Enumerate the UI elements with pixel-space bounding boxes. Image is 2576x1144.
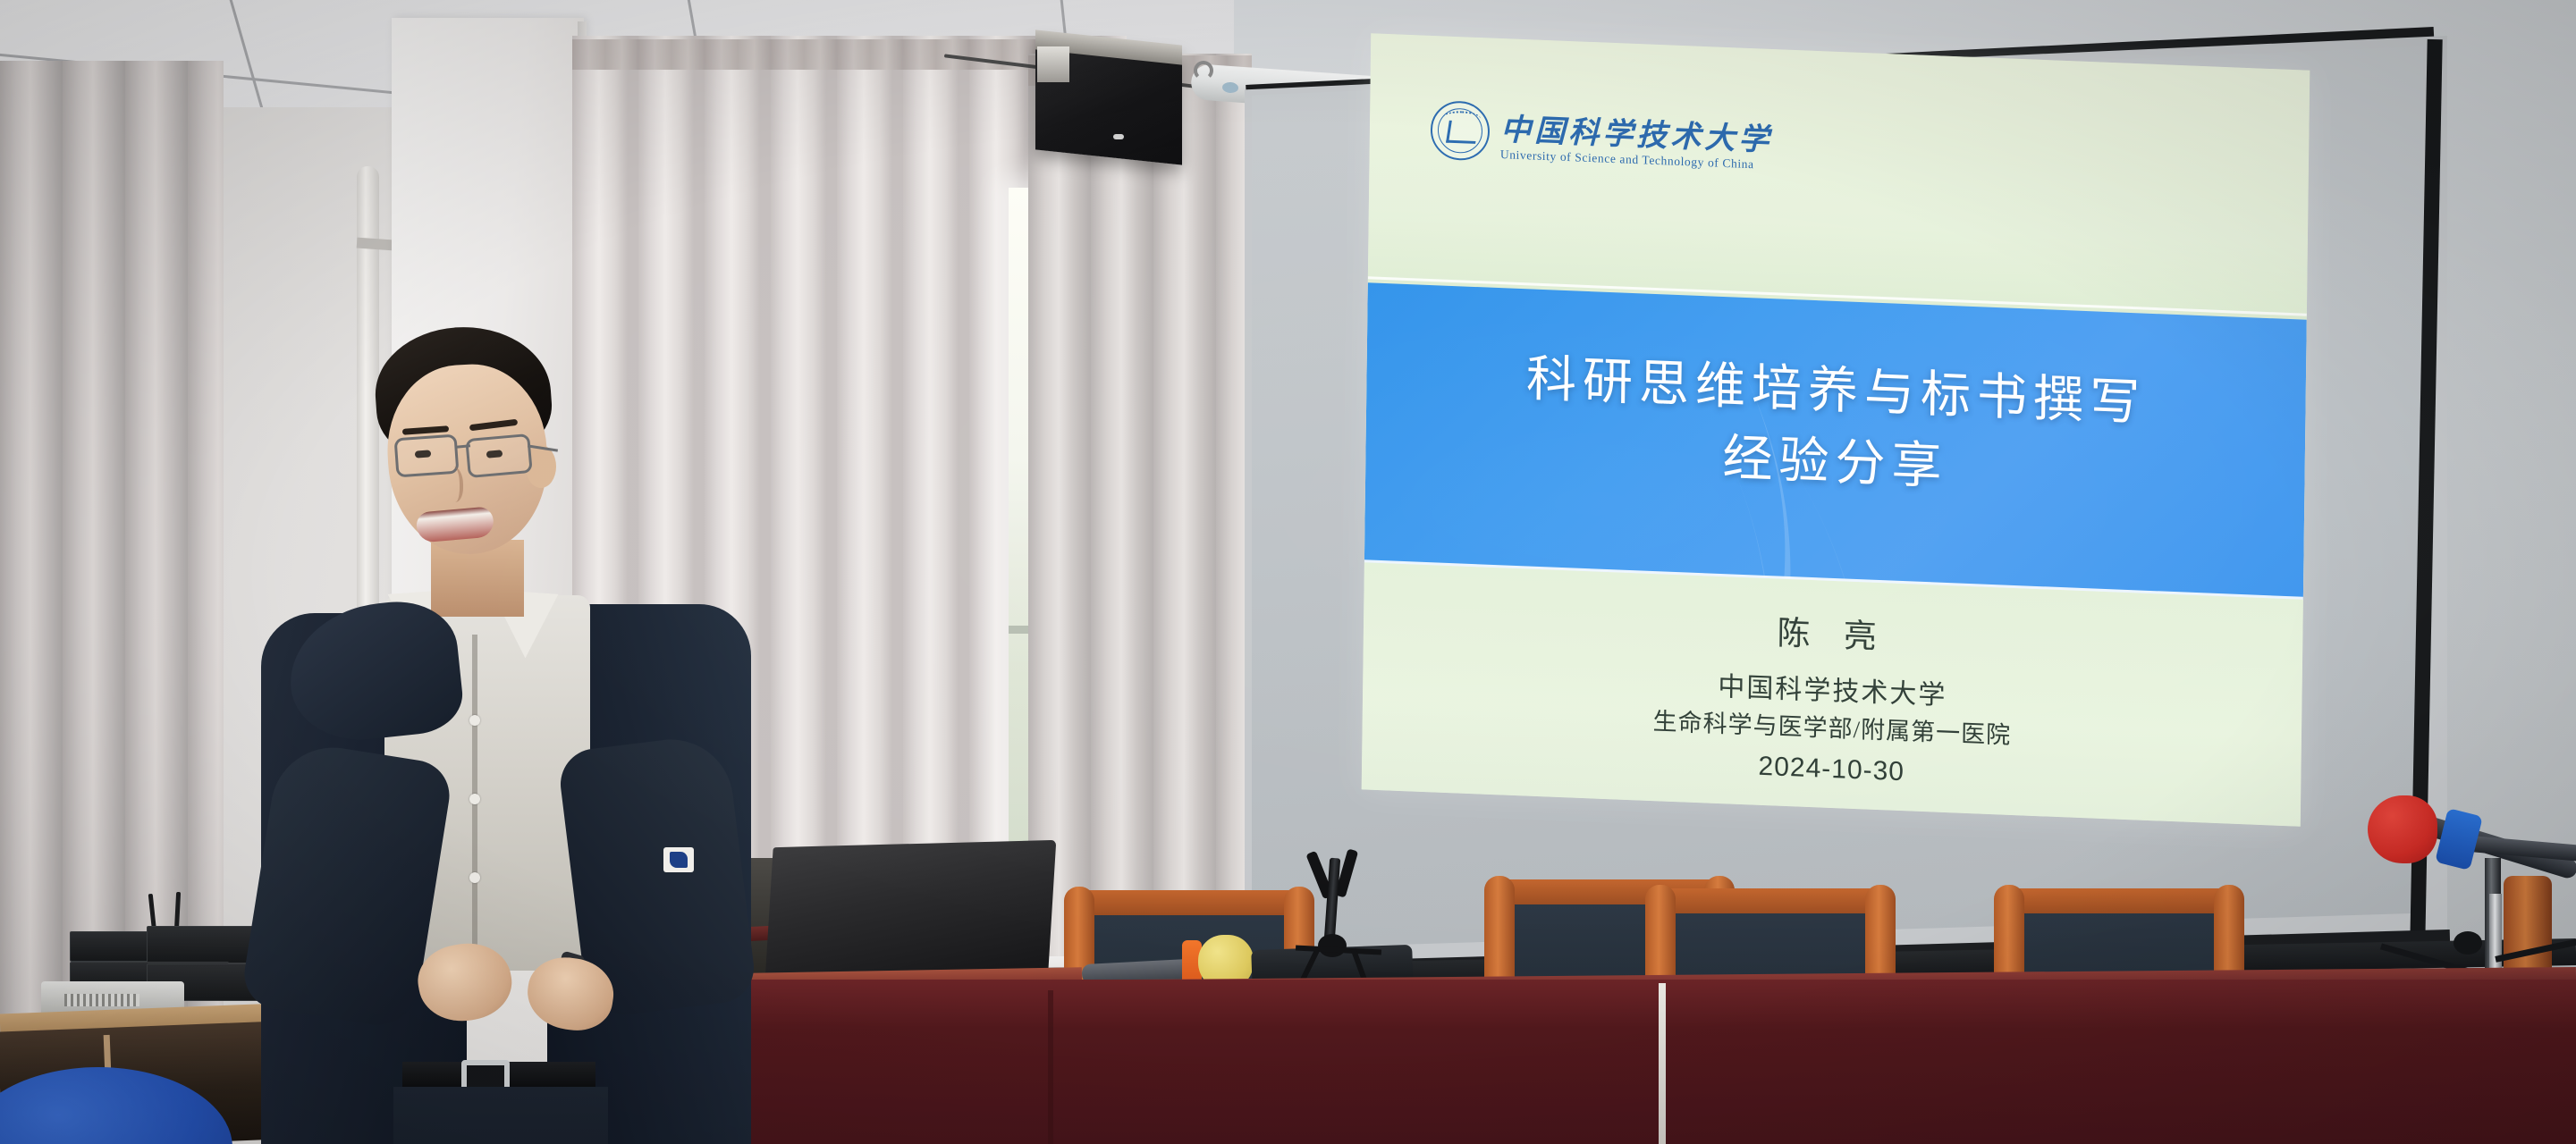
- shirt-button: [469, 794, 480, 804]
- trousers: [393, 1087, 608, 1144]
- red-foam-microphone[interactable]: [2368, 795, 2437, 863]
- presenter-speaking: [268, 340, 751, 1144]
- window-curtain-right: [1028, 54, 1252, 956]
- projected-slide[interactable]: 中国科学技术大学 University of Science and Techn…: [1362, 33, 2310, 826]
- table-seam: [1048, 990, 1053, 1144]
- presentation-scene: 中国科学技术大学 University of Science and Techn…: [0, 0, 2576, 1144]
- shirt-button: [469, 715, 480, 726]
- shirt-placket: [472, 635, 477, 974]
- eyeglasses-lens-right: [465, 433, 533, 478]
- ustc-seal-icon: [1431, 100, 1491, 162]
- slide-presenter-info: 陈 亮 中国科学技术大学 生命科学与医学部/附属第一医院 2024-10-30: [1362, 589, 2302, 803]
- roller-hook-icon: [1194, 61, 1213, 80]
- amplifier-vent: [64, 994, 139, 1006]
- nose: [443, 467, 463, 502]
- table-seam: [1659, 983, 1666, 1144]
- right-mic-knob[interactable]: [2454, 931, 2482, 955]
- shirt-button: [469, 872, 480, 883]
- conference-table: [680, 980, 2576, 1144]
- speaker-led-icon: [1113, 134, 1124, 139]
- fila-brand-logo: [663, 847, 694, 872]
- slide-header-band: [1368, 33, 2310, 320]
- speaker-bracket: [1037, 46, 1069, 82]
